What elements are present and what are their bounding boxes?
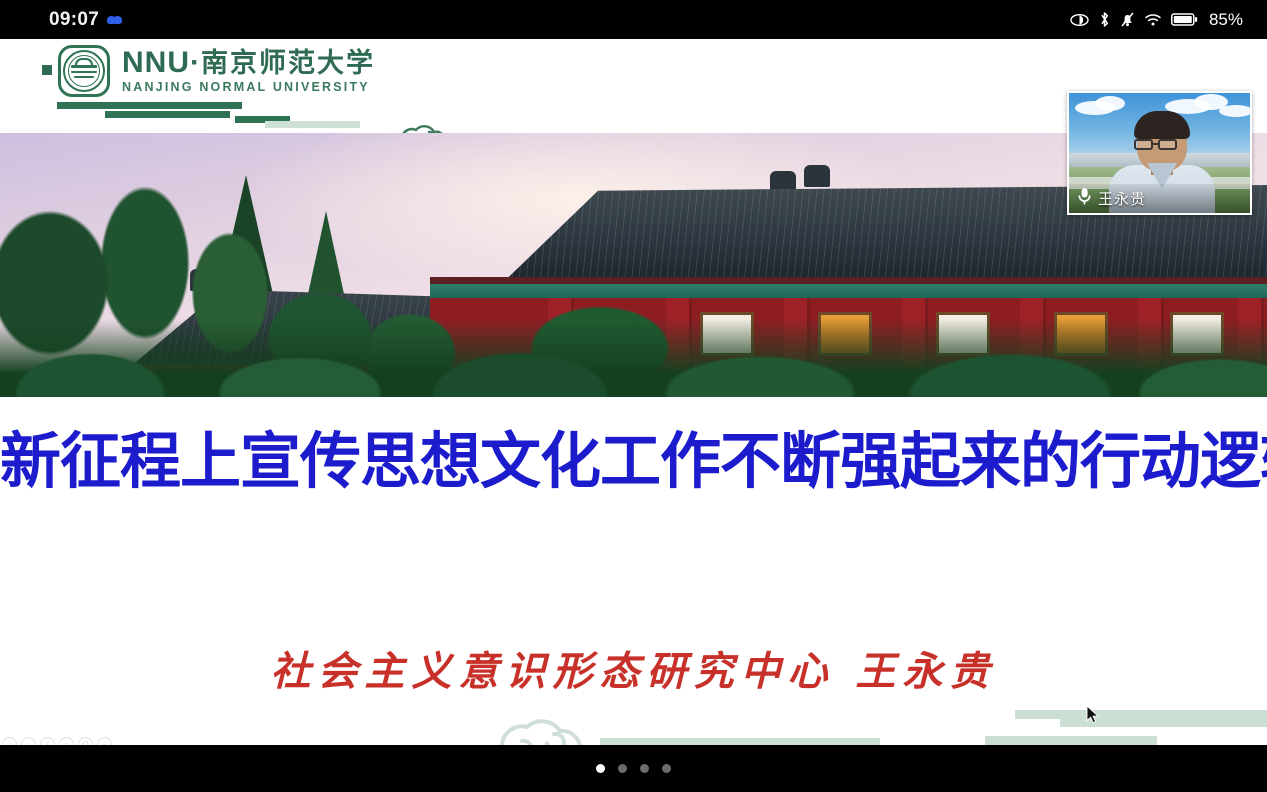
university-logo: NNU·南京师范大学 NANJING NORMAL UNIVERSITY bbox=[42, 45, 375, 97]
page-dot-1[interactable] bbox=[596, 764, 605, 773]
mouse-cursor bbox=[1086, 705, 1100, 725]
battery-icon bbox=[1171, 12, 1198, 27]
page-dot-4[interactable] bbox=[662, 764, 671, 773]
bluetooth-icon bbox=[1098, 11, 1111, 28]
microphone-icon bbox=[1077, 187, 1092, 211]
pen-icon[interactable]: / bbox=[40, 737, 55, 745]
eye-comfort-icon bbox=[1070, 13, 1089, 27]
page-dot-2[interactable] bbox=[618, 764, 627, 773]
speaker-name: 王永贵 bbox=[1098, 188, 1146, 209]
footer-deco-bar-3 bbox=[1015, 710, 1267, 719]
page-indicator-bar bbox=[0, 745, 1267, 792]
speaker-glasses-bridge bbox=[1153, 143, 1159, 145]
slide-subtitle: 社会主义意识形态研究中心 王永贵 bbox=[0, 639, 1267, 697]
header-deco-bar-2 bbox=[105, 111, 230, 118]
logo-separator: · bbox=[190, 46, 201, 79]
logo-name-cn: 南京师范大学 bbox=[201, 48, 375, 79]
status-bar: 09:07 85% bbox=[0, 0, 1267, 39]
wifi-icon bbox=[1144, 12, 1162, 27]
speaker-hair bbox=[1134, 111, 1190, 139]
slide-title: 新征程上宣传思想文化工作不断强起来的行动逻辑 bbox=[0, 411, 1267, 500]
speaker-glasses-left bbox=[1134, 139, 1153, 150]
page-dot-3[interactable] bbox=[640, 764, 649, 773]
speaker-label-bar: 王永贵 bbox=[1069, 184, 1250, 213]
presentation-slide[interactable]: NNU·南京师范大学 NANJING NORMAL UNIVERSITY bbox=[0, 39, 1267, 745]
logo-line-primary: NNU·南京师范大学 bbox=[122, 48, 375, 79]
footer-deco-bar-1 bbox=[600, 738, 880, 745]
video-cloud-5 bbox=[1219, 105, 1252, 117]
logo-name-en: NANJING NORMAL UNIVERSITY bbox=[122, 80, 375, 94]
speaker-video-thumbnail[interactable]: 王永贵 bbox=[1067, 91, 1252, 215]
slide-title-area: 新征程上宣传思想文化工作不断强起来的行动逻辑 社会主义意识形态研究中心 王永贵 bbox=[0, 397, 1267, 745]
status-bar-left: 09:07 bbox=[14, 9, 124, 31]
status-bar-right: 85% bbox=[1070, 10, 1253, 30]
bell-muted-icon bbox=[1120, 11, 1135, 28]
slide-mini-toolbar[interactable]: ‹ › / ⌂ Q − bbox=[2, 737, 112, 745]
status-clock: 09:07 bbox=[49, 9, 99, 31]
header-deco-bar-1 bbox=[57, 102, 242, 109]
minus-icon[interactable]: − bbox=[97, 737, 112, 745]
screen-root: 09:07 85% bbox=[0, 0, 1267, 792]
photo-foliage-foreground bbox=[0, 319, 1267, 397]
battery-percent: 85% bbox=[1209, 10, 1243, 30]
app-notification-icon bbox=[107, 14, 124, 25]
logo-text-block: NNU·南京师范大学 NANJING NORMAL UNIVERSITY bbox=[122, 48, 375, 94]
university-seal-icon bbox=[58, 45, 110, 97]
forward-icon[interactable]: › bbox=[21, 737, 36, 745]
search-icon[interactable]: Q bbox=[78, 737, 93, 745]
roof-finial-3 bbox=[804, 165, 830, 187]
video-cloud-2 bbox=[1095, 96, 1125, 111]
speaker-glasses-right bbox=[1158, 139, 1177, 150]
header-deco-bar-4 bbox=[265, 121, 360, 128]
logo-abbrev: NNU bbox=[122, 46, 190, 79]
footer-deco-bar-5 bbox=[985, 736, 1157, 745]
home-icon[interactable]: ⌂ bbox=[59, 737, 74, 745]
back-icon[interactable]: ‹ bbox=[2, 737, 17, 745]
logo-accent-square bbox=[42, 65, 52, 75]
